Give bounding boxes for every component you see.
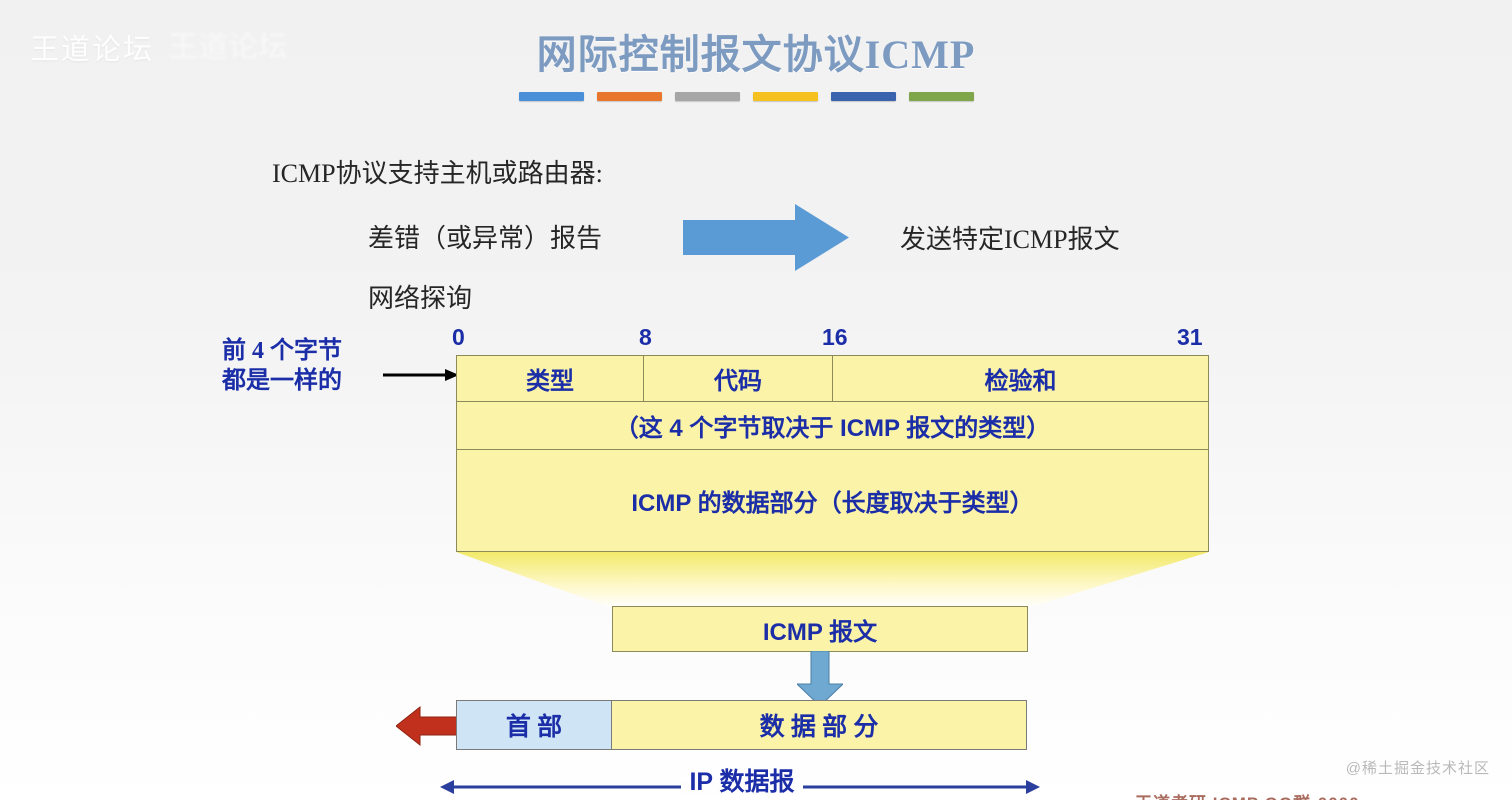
bit-tick-16: 16 — [822, 324, 848, 351]
icmp-field-type: 类型 — [457, 356, 644, 401]
icmp-header-table: 类型 代码 检验和 （这 4 个字节取决于 ICMP 报文的类型） ICMP 的… — [456, 355, 1209, 552]
icmp-header-row-variable: （这 4 个字节取决于 ICMP 报文的类型） — [457, 402, 1208, 450]
bar-gray — [675, 92, 740, 101]
ip-header-cell: 首 部 — [457, 701, 612, 749]
intro-right-note: 发送特定ICMP报文 — [900, 219, 1120, 256]
red-left-arrow-icon — [396, 705, 460, 747]
slide-title: 网际控制报文协议ICMP — [0, 22, 1512, 80]
ip-datagram-row: 首 部 数 据 部 分 — [456, 700, 1027, 750]
icmp-variable-note: （这 4 个字节取决于 ICMP 报文的类型） — [457, 402, 1208, 449]
intro-branch-network-probe: 网络探询 — [368, 278, 472, 315]
title-decor-bars — [519, 92, 974, 101]
ip-datagram-span-arrow-icon — [440, 778, 1040, 796]
bit-tick-31: 31 — [1177, 324, 1203, 351]
right-arrow-icon — [683, 204, 849, 271]
bit-tick-8: 8 — [639, 324, 652, 351]
bar-yellow — [753, 92, 818, 101]
icmp-data-note: ICMP 的数据部分（长度取决于类型） — [457, 450, 1208, 551]
icmp-field-code: 代码 — [644, 356, 833, 401]
icmp-header-row-fields: 类型 代码 检验和 — [457, 356, 1208, 402]
funnel-shape — [456, 552, 1209, 608]
bar-navy — [831, 92, 896, 101]
bar-green — [909, 92, 974, 101]
icmp-header-row-data: ICMP 的数据部分（长度取决于类型） — [457, 450, 1208, 551]
bar-blue — [519, 92, 584, 101]
bar-orange — [597, 92, 662, 101]
annotation-line-1: 前 4 个字节 — [222, 336, 342, 366]
icmp-field-checksum: 检验和 — [833, 356, 1208, 401]
annotation-line-2: 都是一样的 — [222, 366, 342, 396]
ip-data-cell: 数 据 部 分 — [612, 701, 1026, 749]
down-arrow-icon — [797, 651, 843, 706]
intro-lead-text: ICMP协议支持主机或路由器: — [272, 153, 603, 190]
bit-tick-0: 0 — [452, 324, 465, 351]
annotation-first-4-bytes: 前 4 个字节 都是一样的 — [222, 336, 342, 396]
intro-branch-error-report: 差错（或异常）报告 — [368, 218, 602, 255]
annotation-pointer-arrow-icon — [383, 368, 459, 382]
watermark-bottom-right: @稀土掘金技术社区 — [1346, 757, 1490, 778]
watermark-clipped-footer: 王道考研 ICMP QQ群:0000 — [1135, 789, 1360, 800]
icmp-message-box: ICMP 报文 — [612, 606, 1028, 652]
slide-canvas: 王道论坛 王道论坛 @稀土掘金技术社区 王道考研 ICMP QQ群:0000 网… — [0, 0, 1512, 800]
